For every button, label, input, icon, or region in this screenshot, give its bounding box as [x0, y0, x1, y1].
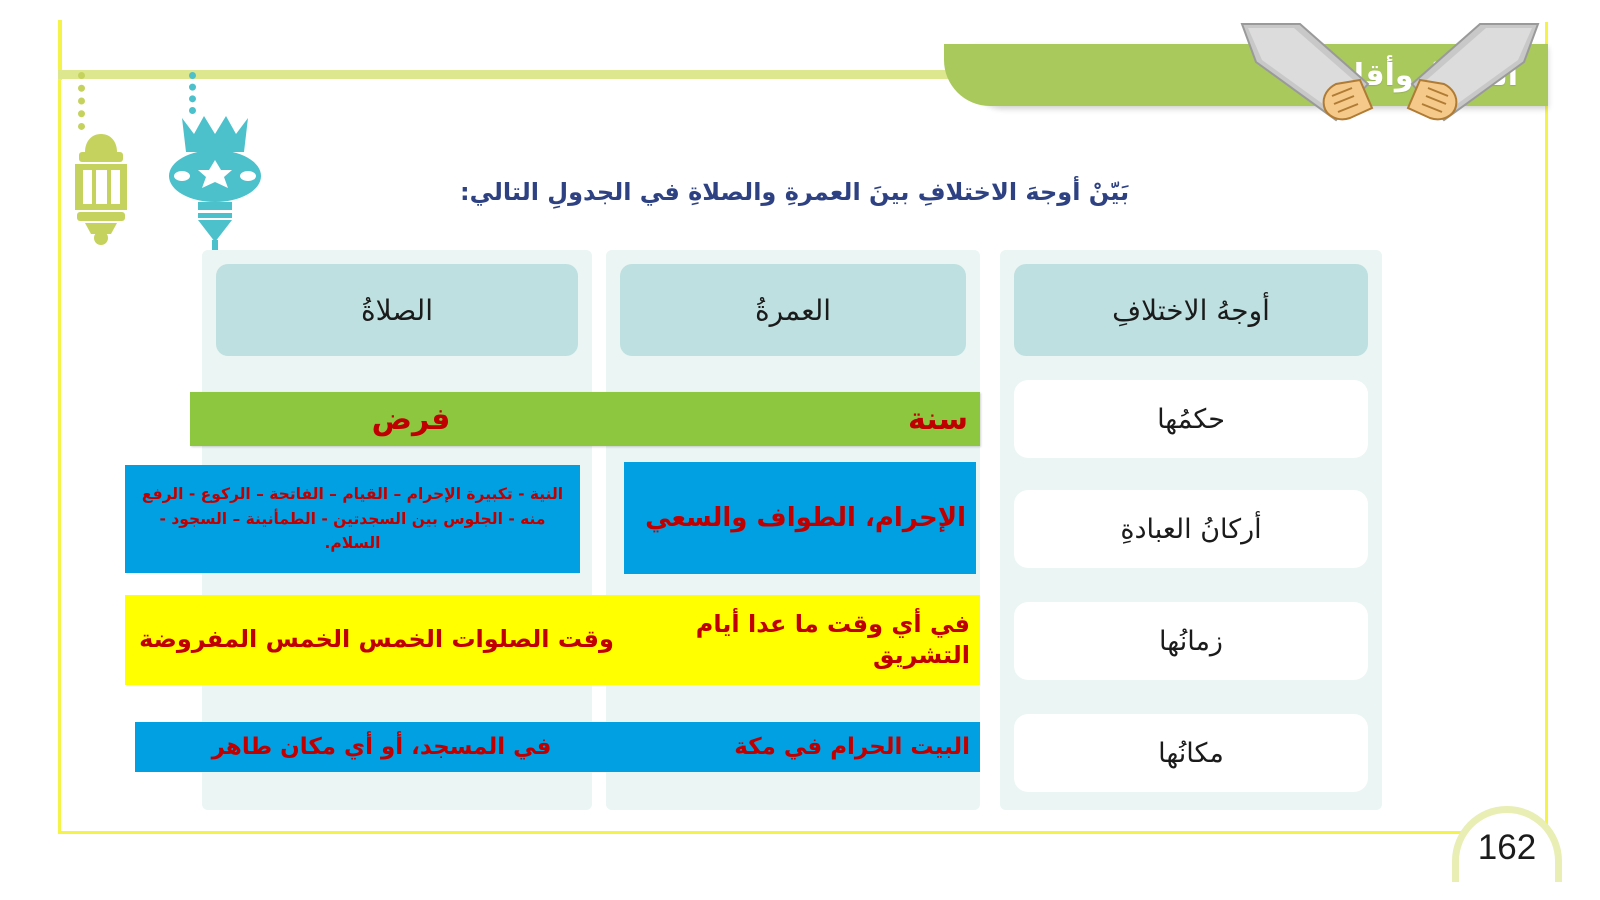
answer-zaman-umrah: في أي وقت ما عدا أيام التشريق: [628, 595, 980, 685]
table-row-label-makan: مكانُها: [1014, 714, 1368, 792]
answer-text: في أي وقت ما عدا أيام التشريق: [634, 609, 970, 671]
answer-text: سنة: [908, 402, 968, 437]
answer-text: الإحرام، الطواف والسعي: [645, 502, 966, 535]
lantern-cord-icon: [78, 72, 92, 130]
row-label-text: مكانُها: [1158, 738, 1224, 769]
table-row-label-arkan: أركانُ العبادةِ: [1014, 490, 1368, 568]
answer-text: النية - تكبيرة الإحرام – القيام – الفاتح…: [135, 482, 570, 556]
answer-text: فرض: [372, 402, 451, 437]
lantern-teal-body-icon: [160, 114, 270, 254]
row-label-text: زمانُها: [1159, 626, 1223, 657]
answer-hukm-salah: فرض: [190, 392, 632, 446]
answer-text: في المسجد، أو أي مكان طاهر: [212, 734, 552, 760]
answer-row-hukm: سنة فرض: [190, 392, 980, 446]
answer-text: وقت الصلوات الخمس الخمس المفروضة: [139, 624, 614, 655]
comparison-table: أوجهُ الاختلافِ العمرةُ الصلاةُ حكمُها أ…: [142, 250, 1382, 810]
table-header-salah: الصلاةُ: [216, 264, 578, 356]
table-row-label-zaman: زمانُها: [1014, 602, 1368, 680]
table-row-label-hukm: حكمُها: [1014, 380, 1368, 458]
table-header-aspect: أوجهُ الاختلافِ: [1014, 264, 1368, 356]
table-header-umrah: العمرةُ: [620, 264, 966, 356]
section-banner: أَتعاونُ وأقارنُ:: [970, 44, 1548, 106]
table-header-aspect-label: أوجهُ الاختلافِ: [1112, 294, 1270, 327]
answer-arkan-umrah: الإحرام، الطواف والسعي: [624, 462, 976, 574]
answer-makan-umrah: البيت الحرام في مكة: [628, 722, 980, 772]
answer-zaman-salah: وقت الصلوات الخمس الخمس المفروضة: [125, 595, 628, 685]
answer-hukm-umrah: سنة: [632, 392, 980, 446]
answer-arkan-salah: النية - تكبيرة الإحرام – القيام – الفاتح…: [125, 465, 580, 573]
banner-title: أَتعاونُ وأقارنُ:: [1299, 58, 1518, 93]
lantern-green-body-icon: [61, 130, 141, 250]
lantern-cord-icon: [189, 72, 203, 114]
table-header-umrah-label: العمرةُ: [755, 294, 831, 327]
row-label-text: حكمُها: [1157, 404, 1225, 435]
instruction-text: بَيّنْ أوجهَ الاختلافِ بينَ العمرةِ والص…: [460, 178, 1280, 206]
row-label-text: أركانُ العبادةِ: [1120, 514, 1261, 545]
answer-makan-salah: في المسجد، أو أي مكان طاهر: [135, 722, 628, 772]
answer-text: البيت الحرام في مكة: [734, 734, 970, 760]
answer-row-zaman: في أي وقت ما عدا أيام التشريق وقت الصلوا…: [125, 595, 980, 685]
answer-row-makan: البيت الحرام في مكة في المسجد، أو أي مكا…: [135, 722, 980, 772]
table-header-salah-label: الصلاةُ: [361, 294, 433, 327]
page-number: 162: [1452, 828, 1562, 868]
page-number-badge: 162: [1452, 806, 1562, 882]
